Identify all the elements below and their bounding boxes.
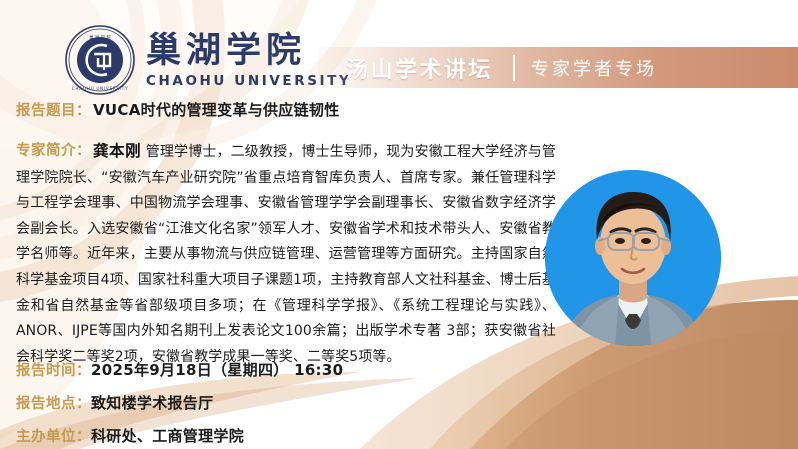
speaker-bio-block: 专家简介： 龚本刚 管理学博士，二级教授，博士生导师，现为安徽工程大学经济与管理… — [16, 139, 556, 370]
report-title-row: 报告题目： VUCA时代的管理变革与供应链韧性 — [16, 99, 340, 120]
report-time-row: 报告时间： 2025年9月18日（星期四） 16:30 — [16, 359, 343, 380]
banner-divider — [513, 55, 515, 81]
report-time-value: 2025年9月18日（星期四） 16:30 — [91, 359, 343, 380]
report-place-label: 报告地点： — [16, 392, 91, 413]
forum-banner: 汤山学术讲坛 专家学者专场 — [318, 47, 798, 88]
university-seal-icon: 巢 湖 学 院 CHAOHU UNIVERSITY — [64, 24, 136, 96]
report-place-value: 致知楼学术报告厅 — [91, 392, 213, 413]
speaker-name: 龚本刚 — [93, 142, 141, 160]
organizer-row: 主办单位： 科研处、工商管理学院 — [16, 425, 244, 446]
university-name-cn: 巢湖学院 — [146, 31, 306, 71]
report-title-label: 报告题目： — [16, 99, 91, 120]
speaker-portrait-image — [545, 170, 721, 346]
speaker-bio-body: 管理学博士，二级教授，博士生导师，现为安徽工程大学经济与管理学院院长、“安徽汽车… — [16, 144, 556, 365]
organizer-label: 主办单位： — [16, 425, 91, 446]
forum-banner-subtitle: 专家学者专场 — [531, 55, 657, 81]
svg-text:CHAOHU UNIVERSITY: CHAOHU UNIVERSITY — [72, 86, 128, 91]
forum-banner-title: 汤山学术讲坛 — [346, 52, 493, 84]
organizer-value: 科研处、工商管理学院 — [91, 425, 244, 446]
report-place-row: 报告地点： 致知楼学术报告厅 — [16, 392, 213, 413]
university-logo-block: 巢 湖 学 院 CHAOHU UNIVERSITY 巢湖学院 CHAOHU UN… — [64, 24, 351, 96]
speaker-bio-label: 专家简介： — [16, 139, 91, 165]
report-time-label: 报告时间： — [16, 359, 91, 380]
report-title-value: VUCA时代的管理变革与供应链韧性 — [93, 99, 340, 120]
lecture-poster: 巢 湖 学 院 CHAOHU UNIVERSITY 巢湖学院 CHAOHU UN… — [0, 0, 798, 449]
speaker-bio-text: 专家简介： 龚本刚 管理学博士，二级教授，博士生导师，现为安徽工程大学经济与管理… — [16, 139, 556, 370]
svg-text:巢 湖 学 院: 巢 湖 学 院 — [89, 34, 111, 41]
speaker-portrait — [545, 170, 721, 346]
